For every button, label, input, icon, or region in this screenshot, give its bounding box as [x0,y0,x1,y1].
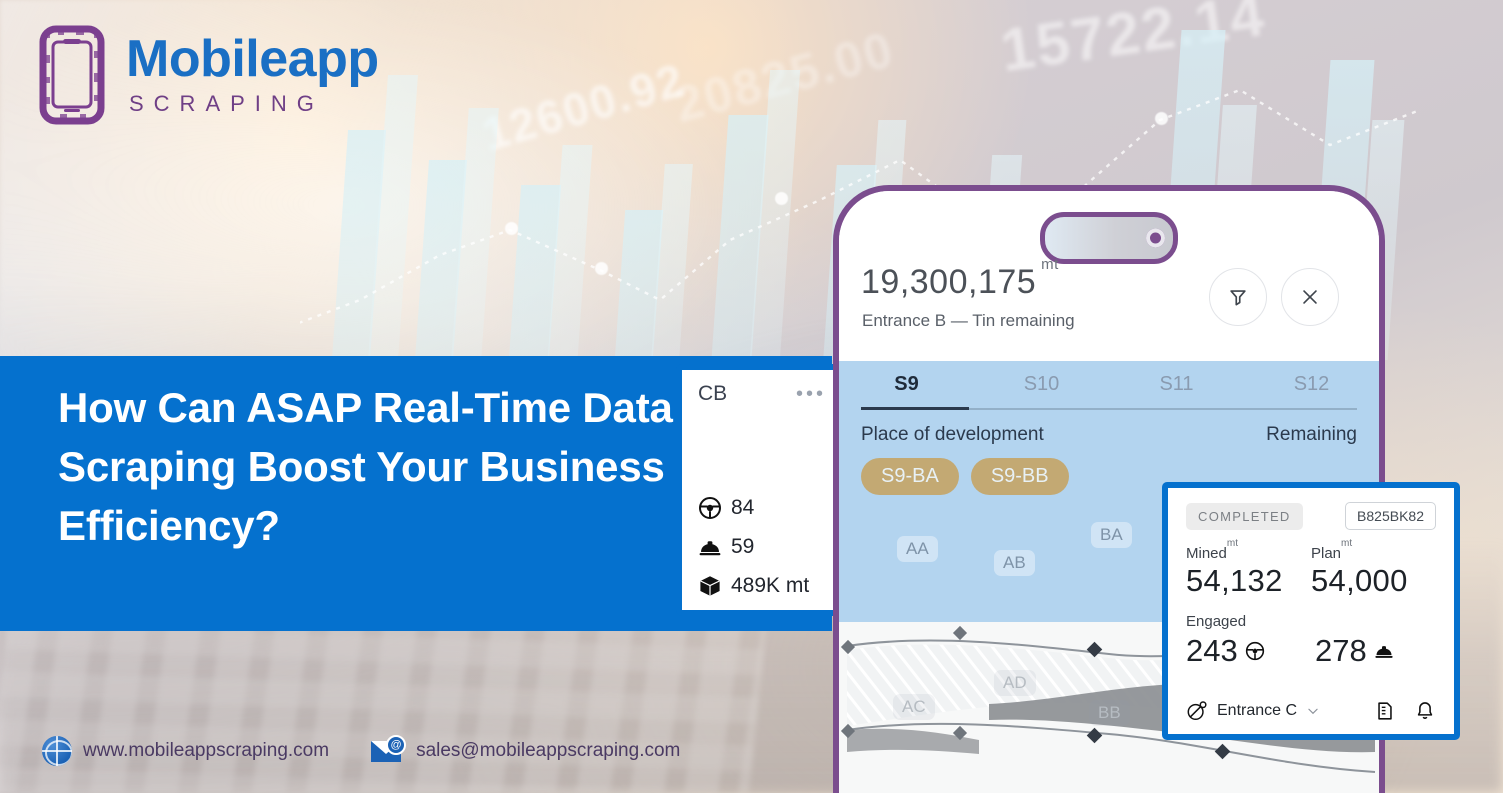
close-button[interactable] [1281,268,1339,326]
node-label-ab[interactable]: AB [994,550,1035,576]
phone-metric-unit: mt [1041,256,1059,273]
phone-metric-number: 19,300,175 [861,263,1036,301]
block-code[interactable]: B825BK82 [1345,502,1436,530]
metric-plan-label: Plan [1311,545,1341,562]
phone-metric-value: 19,300,175mt [861,263,1059,302]
tab-s10[interactable]: S10 [974,373,1109,410]
metric-mined-value: 54,132 [1186,563,1311,599]
cb-stat-drivers: 84 [698,496,809,520]
website-contact[interactable]: www.mobileappscraping.com [42,736,329,766]
section-tabs[interactable]: S9 S10 S11 S12 [839,361,1379,410]
hard-hat-icon [1374,641,1394,661]
engaged-label: Engaged [1186,613,1436,630]
metric-mined-unit: mt [1227,538,1238,549]
mobile-phone-outline-icon [38,25,108,125]
metric-mined-label: Mined [1186,545,1227,562]
email-address: sales@mobileappscraping.com [416,740,680,762]
engaged-drivers-value: 243 [1186,633,1238,669]
filter-button[interactable] [1209,268,1267,326]
steering-wheel-icon [1245,641,1265,661]
map-label-right: Remaining [1266,424,1357,446]
node-label-ba[interactable]: BA [1091,522,1132,548]
status-badge: COMPLETED [1186,503,1303,530]
pill-s9-bb[interactable]: S9-BB [971,458,1069,495]
bell-icon[interactable] [1414,700,1436,722]
map-label-left: Place of development [861,424,1044,446]
brand-name-primary: Mobileapp [126,33,379,85]
email-at-icon: @ [371,738,405,764]
node-label-bb[interactable]: BB [1089,700,1130,726]
page-title: How Can ASAP Real-Time Data Scraping Boo… [58,378,678,555]
engaged-values: 243 278 [1186,633,1436,669]
cb-stat-volume-value: 489K mt [731,574,809,598]
globe-icon [42,736,72,766]
brand-logo[interactable]: Mobileapp SCRAPING [38,25,379,125]
detail-card-header: COMPLETED B825BK82 [1186,502,1436,530]
detail-card-footer: Entrance C [1186,700,1436,722]
document-icon[interactable] [1374,700,1396,722]
camera-icon [1146,229,1165,248]
dynamic-island [1040,212,1178,264]
phone-header: 19,300,175mt Entrance B — Tin remaining [839,191,1379,361]
detail-metrics: Minedmt 54,132 Planmt 54,000 [1186,544,1436,599]
tab-s12[interactable]: S12 [1244,373,1379,410]
brand-name-secondary: SCRAPING [129,91,379,117]
metric-plan-unit: mt [1341,538,1352,549]
node-label-ac[interactable]: AC [893,694,935,720]
cb-card-stats: 84 59 489K mt [698,496,809,598]
metric-plan-value: 54,000 [1311,563,1436,599]
metric-mined: Minedmt 54,132 [1186,544,1311,599]
location-selector[interactable]: Entrance C [1186,700,1320,722]
box-icon [698,574,722,598]
cb-stat-workers-value: 59 [731,535,754,559]
close-x-icon [1299,286,1321,308]
tab-s9[interactable]: S9 [839,373,974,410]
engaged-workers-value: 278 [1315,633,1367,669]
detail-card-actions[interactable] [1374,700,1436,722]
map-pills[interactable]: S9-BA S9-BB [861,458,1069,495]
cb-stat-drivers-value: 84 [731,496,754,520]
cb-summary-card[interactable]: CB ••• 84 59 489K mt [676,364,848,616]
node-label-ad[interactable]: AD [994,670,1036,696]
cb-card-title: CB [698,382,727,406]
poster-canvas: 12600.92 20825.00 15722.14 [0,0,1503,793]
node-label-aa[interactable]: AA [897,536,938,562]
engaged-drivers: 243 [1186,633,1307,669]
steering-wheel-icon [698,496,722,520]
block-detail-card[interactable]: COMPLETED B825BK82 Minedmt 54,132 Planmt… [1162,482,1460,740]
map-column-labels: Place of development Remaining [861,424,1357,446]
cb-stat-volume: 489K mt [698,574,809,598]
metric-plan: Planmt 54,000 [1311,544,1436,599]
ellipsis-icon[interactable]: ••• [796,389,826,399]
tab-s11[interactable]: S11 [1109,373,1244,410]
cb-stat-workers: 59 [698,535,809,559]
phone-metric-subtitle: Entrance B — Tin remaining [862,311,1075,331]
pill-s9-ba[interactable]: S9-BA [861,458,959,495]
footer-contacts: www.mobileappscraping.com @ sales@mobile… [42,736,680,766]
map-pin-icon [1186,700,1208,722]
email-contact[interactable]: @ sales@mobileappscraping.com [371,738,680,764]
location-label: Entrance C [1217,702,1297,720]
engaged-workers: 278 [1315,633,1436,669]
hard-hat-icon [698,535,722,559]
funnel-filter-icon [1227,286,1249,308]
website-url: www.mobileappscraping.com [83,740,329,762]
chevron-down-icon[interactable] [1306,704,1320,718]
